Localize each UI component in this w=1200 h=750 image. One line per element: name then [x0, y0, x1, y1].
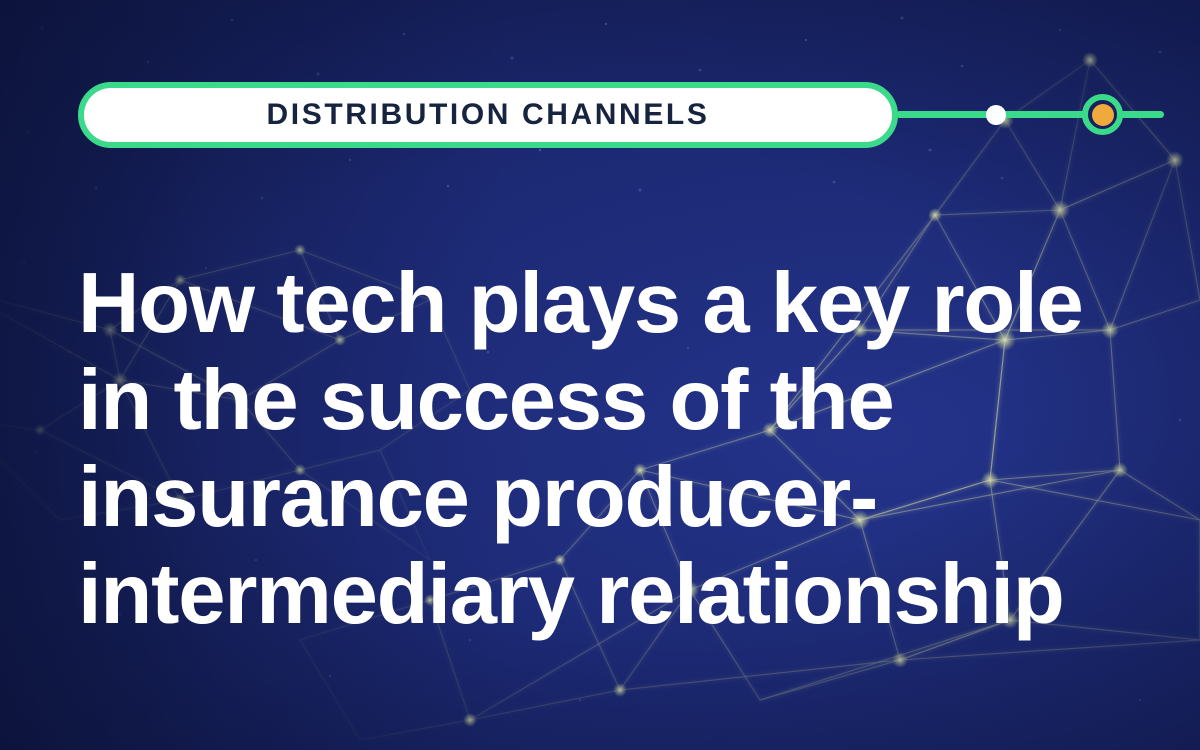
page-title-line: intermediary relationship [78, 546, 1138, 643]
orange-core-dot-icon [1092, 104, 1114, 126]
category-badge[interactable]: DISTRIBUTION CHANNELS [78, 82, 898, 148]
hero-banner: DISTRIBUTION CHANNELS How tech plays a k… [0, 0, 1200, 750]
page-title-line: How tech plays a key role [78, 255, 1138, 352]
page-title: How tech plays a key role in the success… [78, 255, 1138, 643]
category-badge-label: DISTRIBUTION CHANNELS [267, 100, 710, 130]
connector-line-icon [896, 111, 1164, 118]
page-title-line: insurance producer- [78, 449, 1138, 546]
category-badge-row: DISTRIBUTION CHANNELS [78, 82, 1128, 148]
white-node-dot-icon [986, 105, 1006, 125]
page-title-line: in the success of the [78, 352, 1138, 449]
green-ring-node-icon [1082, 94, 1123, 135]
